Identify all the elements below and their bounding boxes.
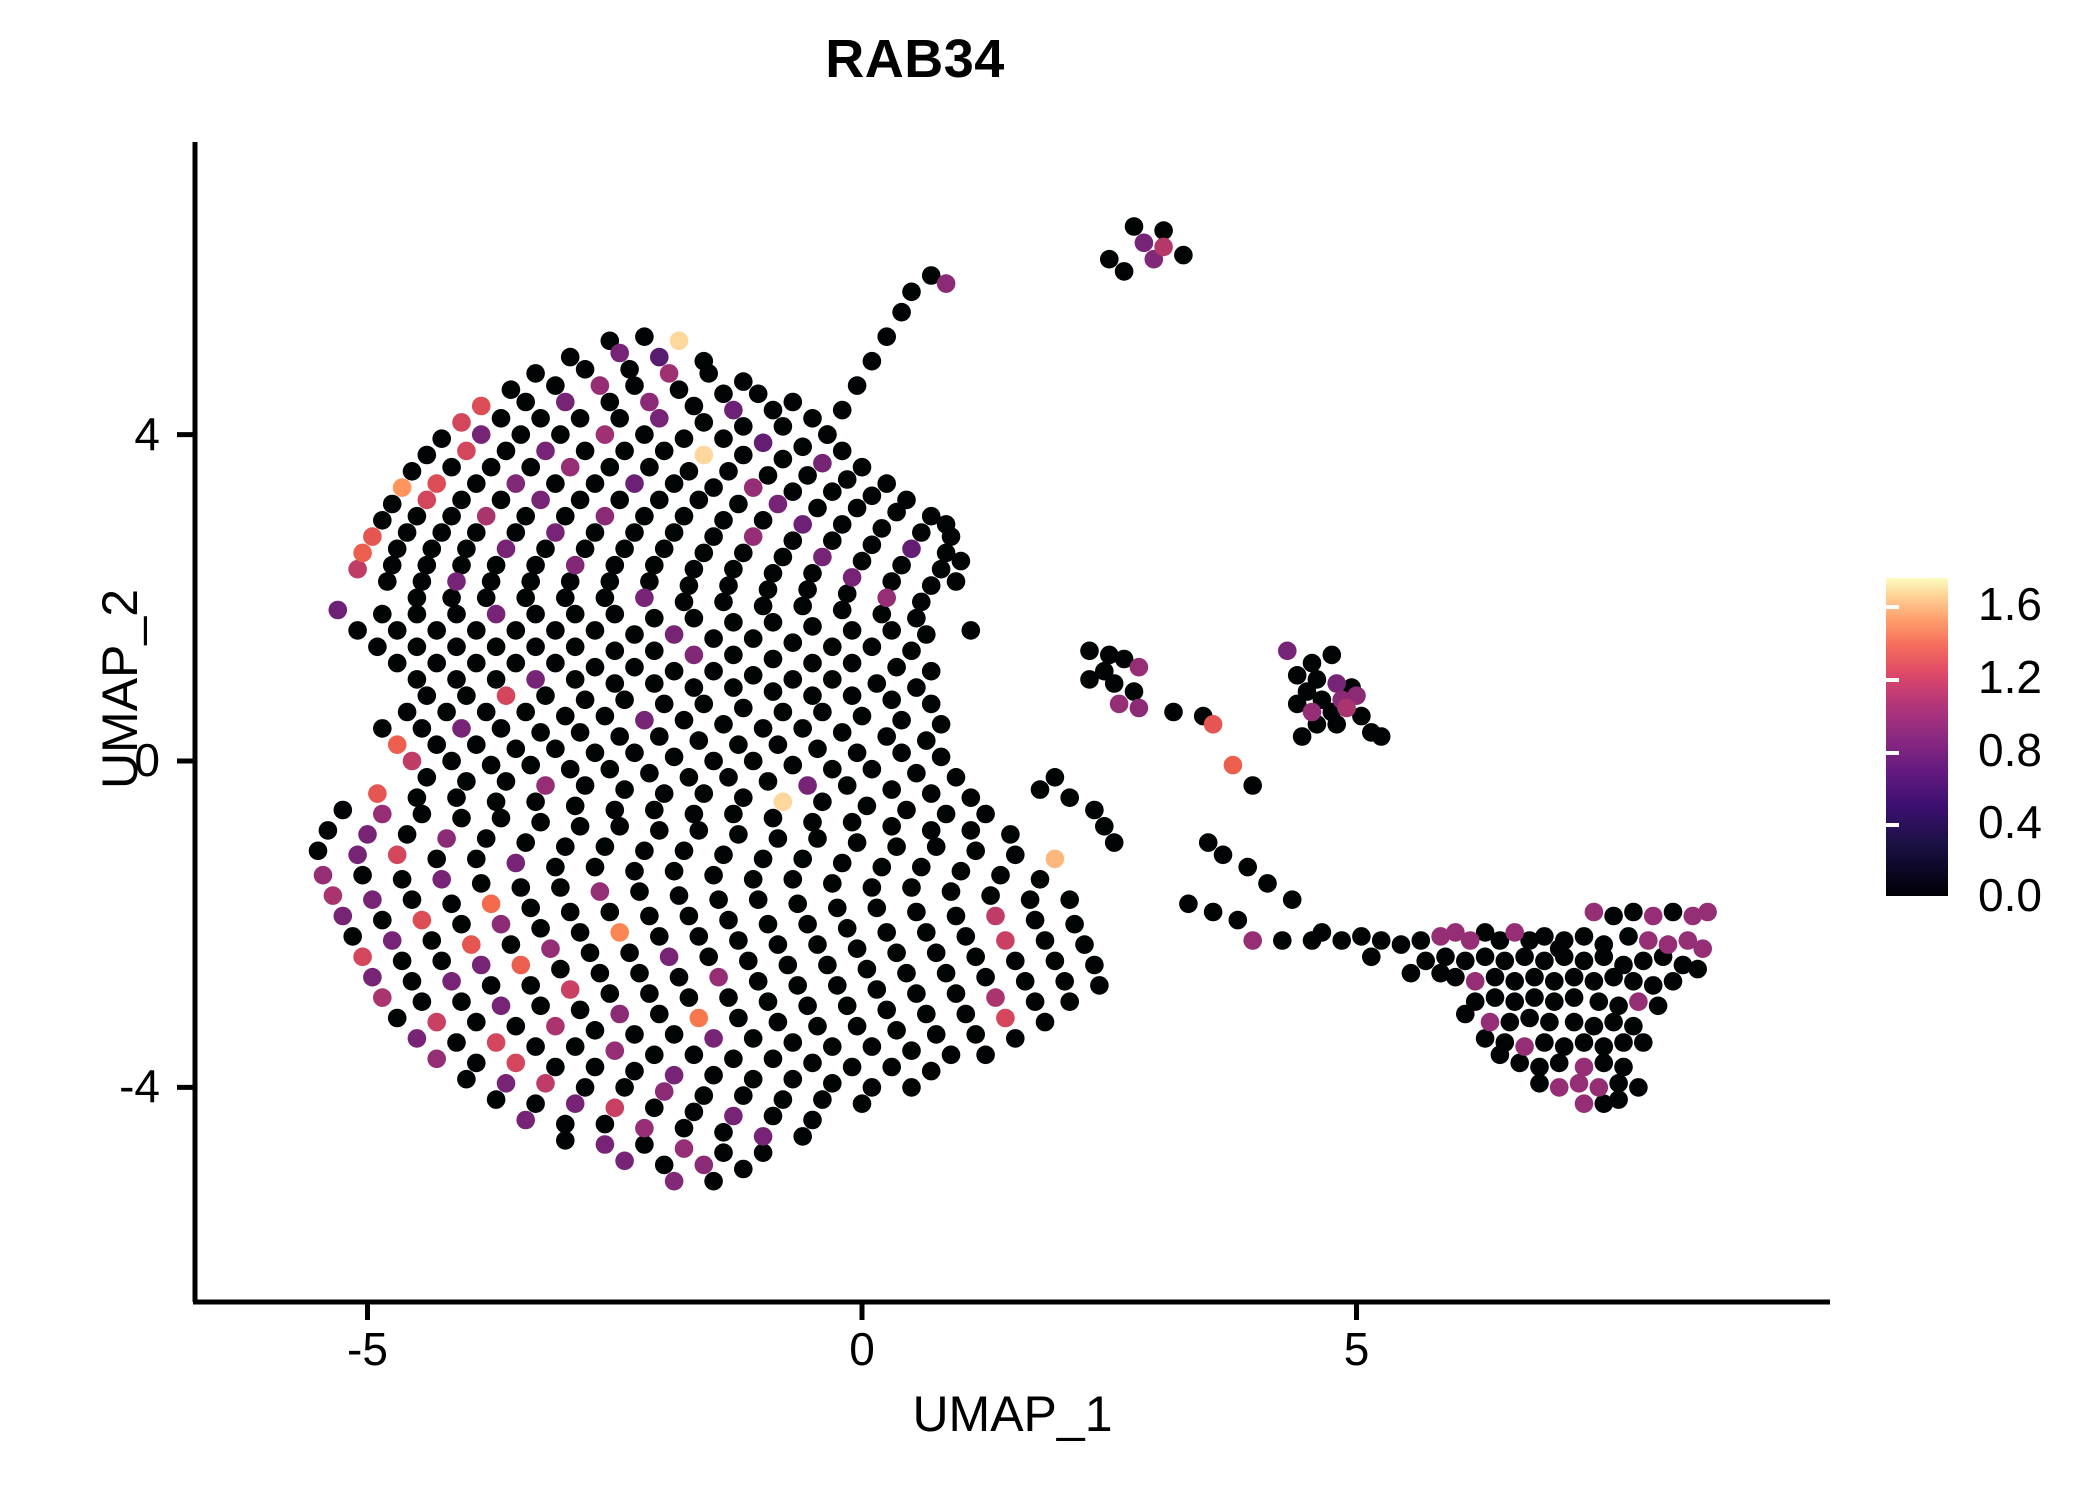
data-point bbox=[784, 1070, 803, 1089]
data-point bbox=[695, 446, 714, 465]
data-point bbox=[635, 711, 654, 730]
data-point bbox=[823, 670, 842, 689]
data-point bbox=[348, 621, 367, 640]
data-point bbox=[1090, 976, 1109, 995]
data-point bbox=[507, 854, 526, 873]
data-point bbox=[887, 837, 906, 856]
data-point bbox=[353, 948, 372, 967]
data-point bbox=[947, 572, 966, 591]
data-point bbox=[704, 866, 723, 885]
data-point bbox=[472, 425, 491, 444]
data-point bbox=[546, 740, 565, 759]
data-point bbox=[793, 719, 812, 738]
data-point bbox=[947, 907, 966, 926]
data-point bbox=[788, 895, 807, 914]
data-point bbox=[729, 825, 748, 844]
data-point bbox=[1060, 788, 1079, 807]
data-point bbox=[922, 784, 941, 803]
data-point bbox=[556, 393, 575, 412]
data-point bbox=[665, 523, 684, 542]
data-point bbox=[536, 540, 555, 559]
data-point bbox=[927, 944, 946, 963]
data-point bbox=[640, 907, 659, 926]
data-point bbox=[695, 413, 714, 432]
data-point bbox=[937, 274, 956, 293]
data-point bbox=[907, 903, 926, 922]
data-point bbox=[729, 931, 748, 950]
data-point bbox=[1278, 642, 1297, 661]
data-point bbox=[675, 711, 694, 730]
data-point bbox=[863, 760, 882, 779]
data-point bbox=[610, 1005, 629, 1024]
data-point bbox=[561, 572, 580, 591]
data-point bbox=[1416, 952, 1435, 971]
data-point bbox=[487, 1033, 506, 1052]
data-point bbox=[457, 1070, 476, 1089]
data-point bbox=[680, 988, 699, 1007]
data-point bbox=[724, 678, 743, 697]
data-point bbox=[507, 523, 526, 542]
data-point bbox=[734, 446, 753, 465]
data-point bbox=[892, 303, 911, 322]
data-point bbox=[363, 527, 382, 546]
data-point bbox=[610, 491, 629, 510]
data-point bbox=[596, 707, 615, 726]
data-point bbox=[576, 442, 595, 461]
data-point bbox=[467, 850, 486, 869]
data-point bbox=[902, 1041, 921, 1060]
data-point bbox=[1352, 927, 1371, 946]
data-point bbox=[427, 654, 446, 673]
data-point bbox=[843, 568, 862, 587]
data-point bbox=[882, 817, 901, 836]
data-point bbox=[1431, 964, 1450, 983]
data-point bbox=[714, 1143, 733, 1162]
data-point bbox=[803, 1054, 822, 1073]
data-point bbox=[576, 540, 595, 559]
data-point bbox=[798, 776, 817, 795]
data-point bbox=[393, 870, 412, 889]
data-point bbox=[353, 866, 372, 885]
data-point bbox=[803, 409, 822, 428]
data-point bbox=[606, 1041, 625, 1060]
data-point bbox=[492, 491, 511, 510]
data-point bbox=[625, 744, 644, 763]
data-point bbox=[719, 988, 738, 1007]
data-point bbox=[343, 927, 362, 946]
data-point bbox=[601, 760, 620, 779]
data-point bbox=[1016, 972, 1035, 991]
data-point bbox=[1337, 699, 1356, 718]
data-point bbox=[650, 927, 669, 946]
data-point bbox=[615, 442, 634, 461]
y-axis-label: UMAP_2 bbox=[91, 339, 149, 1039]
data-point bbox=[957, 1005, 976, 1024]
data-point bbox=[927, 837, 946, 856]
data-point bbox=[724, 1107, 743, 1126]
data-point bbox=[734, 417, 753, 436]
data-point bbox=[610, 727, 629, 746]
data-point bbox=[1060, 890, 1079, 909]
data-point bbox=[714, 846, 733, 865]
data-point bbox=[823, 531, 842, 550]
x-tick-label: 0 bbox=[782, 1322, 942, 1376]
data-point bbox=[1293, 727, 1312, 746]
data-point bbox=[650, 491, 669, 510]
data-point bbox=[947, 768, 966, 787]
data-point bbox=[823, 1037, 842, 1056]
data-point bbox=[848, 1017, 867, 1036]
data-point bbox=[526, 1037, 545, 1056]
data-point bbox=[798, 915, 817, 934]
data-point bbox=[902, 540, 921, 559]
data-point bbox=[516, 833, 535, 852]
data-point bbox=[966, 948, 985, 967]
data-point bbox=[932, 560, 951, 579]
data-point bbox=[922, 695, 941, 714]
data-point bbox=[1402, 964, 1421, 983]
data-point bbox=[442, 507, 461, 526]
data-point bbox=[586, 474, 605, 493]
data-point bbox=[695, 544, 714, 563]
data-point bbox=[833, 601, 852, 620]
data-point bbox=[843, 686, 862, 705]
data-point bbox=[492, 915, 511, 934]
data-point bbox=[764, 401, 783, 420]
data-point bbox=[383, 495, 402, 514]
data-point bbox=[1624, 972, 1643, 991]
data-point bbox=[615, 1152, 634, 1171]
data-point bbox=[1327, 674, 1346, 693]
data-point bbox=[561, 903, 580, 922]
data-point bbox=[1505, 992, 1524, 1011]
data-point bbox=[536, 686, 555, 705]
data-point bbox=[556, 837, 575, 856]
data-point bbox=[863, 638, 882, 657]
data-point bbox=[887, 658, 906, 677]
data-points bbox=[309, 217, 1717, 1190]
data-point bbox=[601, 458, 620, 477]
data-point bbox=[551, 960, 570, 979]
data-point bbox=[655, 442, 674, 461]
data-point bbox=[487, 556, 506, 575]
data-point bbox=[556, 1131, 575, 1150]
data-point bbox=[798, 466, 817, 485]
data-point bbox=[373, 805, 392, 824]
data-point bbox=[363, 890, 382, 909]
data-point bbox=[917, 625, 936, 644]
data-point bbox=[457, 686, 476, 705]
data-point bbox=[329, 601, 348, 620]
data-point bbox=[774, 548, 793, 567]
data-point bbox=[1575, 1058, 1594, 1077]
data-point bbox=[457, 540, 476, 559]
data-point bbox=[882, 1058, 901, 1077]
data-point bbox=[848, 499, 867, 518]
data-point bbox=[1036, 931, 1055, 950]
data-point bbox=[1001, 825, 1020, 844]
data-point bbox=[719, 911, 738, 930]
data-point bbox=[432, 429, 451, 448]
data-point bbox=[492, 809, 511, 828]
data-point bbox=[704, 752, 723, 771]
data-point bbox=[566, 670, 585, 689]
data-point bbox=[645, 801, 664, 820]
data-point bbox=[388, 621, 407, 640]
data-point bbox=[937, 515, 956, 534]
data-point bbox=[408, 788, 427, 807]
data-point bbox=[1006, 846, 1025, 865]
data-point bbox=[793, 597, 812, 616]
colorbar-tick-label: 1.6 bbox=[1978, 577, 2042, 631]
data-point bbox=[764, 650, 783, 669]
data-point bbox=[625, 523, 644, 542]
data-point bbox=[373, 605, 392, 624]
data-point bbox=[655, 1082, 674, 1101]
data-point bbox=[1436, 948, 1455, 967]
data-point bbox=[561, 980, 580, 999]
data-point bbox=[324, 886, 343, 905]
data-point bbox=[724, 401, 743, 420]
data-point bbox=[442, 752, 461, 771]
data-point bbox=[704, 527, 723, 546]
data-point bbox=[912, 858, 931, 877]
data-point bbox=[764, 682, 783, 701]
data-point bbox=[823, 874, 842, 893]
data-point bbox=[793, 1127, 812, 1146]
data-point bbox=[1545, 972, 1564, 991]
data-point bbox=[754, 1143, 773, 1162]
data-point bbox=[1204, 715, 1223, 734]
data-point bbox=[487, 638, 506, 657]
data-point bbox=[571, 817, 590, 836]
data-point bbox=[744, 752, 763, 771]
data-point bbox=[507, 1017, 526, 1036]
data-point bbox=[507, 1054, 526, 1073]
data-point bbox=[1609, 997, 1628, 1016]
data-point bbox=[472, 956, 491, 975]
data-point bbox=[754, 1127, 773, 1146]
data-point bbox=[714, 1123, 733, 1142]
data-point bbox=[497, 686, 516, 705]
data-point bbox=[922, 1062, 941, 1081]
data-point bbox=[803, 1111, 822, 1130]
data-point bbox=[467, 523, 486, 542]
data-point bbox=[793, 438, 812, 457]
data-point bbox=[531, 997, 550, 1016]
data-point bbox=[1515, 1037, 1534, 1056]
data-point bbox=[813, 548, 832, 567]
data-point bbox=[368, 784, 387, 803]
data-point bbox=[546, 1017, 565, 1036]
data-point bbox=[571, 1001, 590, 1020]
data-point bbox=[873, 858, 892, 877]
data-point bbox=[655, 784, 674, 803]
data-point bbox=[655, 1156, 674, 1175]
data-point bbox=[754, 850, 773, 869]
data-point bbox=[388, 846, 407, 865]
data-point bbox=[502, 380, 521, 399]
data-point bbox=[665, 662, 684, 681]
data-point bbox=[719, 768, 738, 787]
data-point bbox=[695, 784, 714, 803]
data-point bbox=[477, 829, 496, 848]
data-point bbox=[650, 409, 669, 428]
data-point bbox=[759, 466, 778, 485]
x-axis-ticks bbox=[368, 1302, 1357, 1320]
data-point bbox=[685, 678, 704, 697]
data-point bbox=[1634, 952, 1653, 971]
data-point bbox=[680, 576, 699, 595]
y-tick-label: -4 bbox=[0, 1059, 160, 1113]
data-point bbox=[526, 556, 545, 575]
data-point bbox=[447, 788, 466, 807]
data-point bbox=[714, 385, 733, 404]
data-point bbox=[625, 474, 644, 493]
data-point bbox=[334, 801, 353, 820]
data-point bbox=[991, 866, 1010, 885]
data-point bbox=[526, 364, 545, 383]
data-point bbox=[996, 1009, 1015, 1028]
data-point bbox=[699, 364, 718, 383]
data-point bbox=[1095, 817, 1114, 836]
data-point bbox=[863, 1078, 882, 1097]
data-point bbox=[744, 629, 763, 648]
data-point bbox=[516, 1111, 535, 1130]
data-point bbox=[378, 572, 397, 591]
data-point bbox=[447, 605, 466, 624]
data-point bbox=[650, 821, 669, 840]
data-point bbox=[1204, 903, 1223, 922]
data-point bbox=[784, 531, 803, 550]
data-point bbox=[418, 686, 437, 705]
data-point bbox=[942, 1046, 961, 1065]
data-point bbox=[403, 752, 422, 771]
data-point bbox=[536, 776, 555, 795]
data-point bbox=[393, 478, 412, 497]
data-point bbox=[635, 842, 654, 861]
data-point bbox=[769, 495, 788, 514]
data-point bbox=[754, 719, 773, 738]
data-point bbox=[1075, 935, 1094, 954]
colorbar-tick-mark bbox=[1873, 678, 1886, 682]
y-axis-ticks bbox=[177, 435, 195, 1088]
data-point bbox=[729, 735, 748, 754]
data-point bbox=[922, 576, 941, 595]
data-point bbox=[1555, 1037, 1574, 1056]
data-point bbox=[1154, 221, 1173, 240]
data-point bbox=[1575, 1094, 1594, 1113]
data-point bbox=[823, 638, 842, 657]
data-point bbox=[640, 984, 659, 1003]
data-point bbox=[813, 1090, 832, 1109]
data-point bbox=[596, 1115, 615, 1134]
data-point bbox=[610, 817, 629, 836]
data-point bbox=[769, 735, 788, 754]
data-point bbox=[556, 1115, 575, 1134]
data-point bbox=[784, 670, 803, 689]
data-point bbox=[665, 1066, 684, 1085]
data-point bbox=[1614, 1033, 1633, 1052]
data-point bbox=[808, 740, 827, 759]
data-point bbox=[472, 874, 491, 893]
data-point bbox=[803, 617, 822, 636]
data-point bbox=[487, 793, 506, 812]
data-point bbox=[1288, 666, 1307, 685]
data-point bbox=[457, 442, 476, 461]
data-point bbox=[764, 564, 783, 583]
data-point bbox=[1135, 234, 1154, 253]
data-point bbox=[596, 507, 615, 526]
data-point bbox=[1031, 870, 1050, 889]
data-point bbox=[947, 984, 966, 1003]
data-point bbox=[388, 540, 407, 559]
data-point bbox=[704, 629, 723, 648]
data-point bbox=[675, 1139, 694, 1158]
data-point bbox=[818, 956, 837, 975]
data-point bbox=[398, 523, 417, 542]
data-point bbox=[561, 458, 580, 477]
data-point bbox=[853, 707, 872, 726]
data-point bbox=[606, 556, 625, 575]
data-point bbox=[413, 572, 432, 591]
data-point bbox=[526, 638, 545, 657]
data-point bbox=[645, 674, 664, 693]
data-point bbox=[546, 654, 565, 673]
data-point bbox=[413, 911, 432, 930]
data-point bbox=[1698, 903, 1717, 922]
data-point bbox=[848, 939, 867, 958]
data-point bbox=[492, 719, 511, 738]
data-point bbox=[902, 283, 921, 302]
data-point bbox=[1229, 911, 1248, 930]
x-axis-label: UMAP_1 bbox=[195, 1385, 1830, 1443]
data-point bbox=[734, 372, 753, 391]
data-point bbox=[922, 662, 941, 681]
data-point bbox=[818, 425, 837, 444]
data-point bbox=[521, 572, 540, 591]
data-point bbox=[734, 1160, 753, 1179]
data-point bbox=[1303, 654, 1322, 673]
data-point bbox=[714, 429, 733, 448]
data-point bbox=[734, 788, 753, 807]
data-point bbox=[655, 540, 674, 559]
data-point bbox=[744, 666, 763, 685]
data-point bbox=[823, 1074, 842, 1093]
data-point bbox=[586, 1058, 605, 1077]
colorbar-tick-mark bbox=[1873, 751, 1886, 755]
data-point bbox=[531, 919, 550, 938]
data-point bbox=[1486, 968, 1505, 987]
data-point bbox=[877, 727, 896, 746]
data-point bbox=[828, 976, 847, 995]
data-point bbox=[892, 556, 911, 575]
data-point bbox=[942, 882, 961, 901]
data-point bbox=[1575, 927, 1594, 946]
data-point bbox=[487, 605, 506, 624]
data-point bbox=[640, 572, 659, 591]
data-point bbox=[427, 850, 446, 869]
data-point bbox=[442, 972, 461, 991]
data-point bbox=[467, 621, 486, 640]
data-point bbox=[1154, 238, 1173, 257]
data-point bbox=[348, 846, 367, 865]
data-point bbox=[853, 552, 872, 571]
data-point bbox=[1688, 960, 1707, 979]
data-point bbox=[848, 376, 867, 395]
data-point bbox=[1412, 931, 1431, 950]
data-point bbox=[348, 560, 367, 579]
